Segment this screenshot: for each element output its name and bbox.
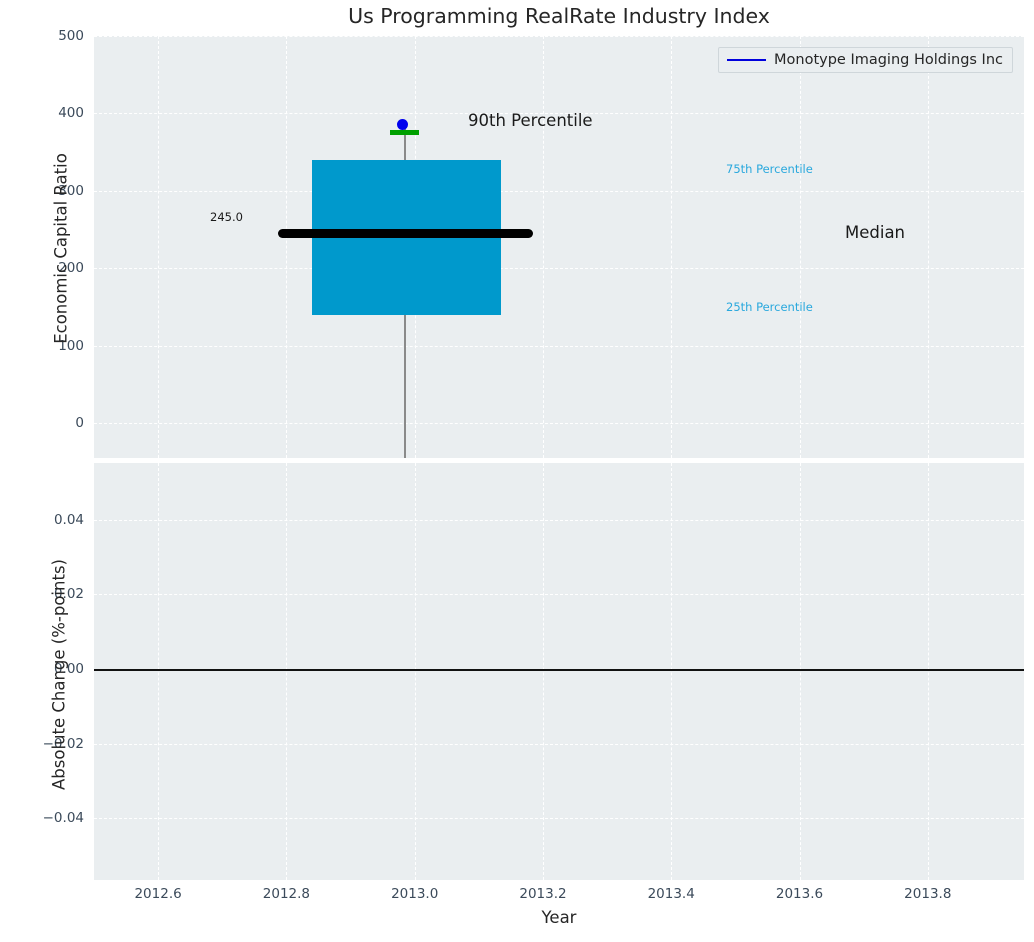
absolute-change-plot-area [94,463,1024,880]
whisker-cap-90th [390,130,419,135]
gridline-x-2013-2-lower [543,463,544,880]
gridline-x-2013-4-lower [671,463,672,880]
xtick-2013-2: 2013.2 [519,886,566,902]
chart-figure: Us Programming RealRate Industry Index 9… [0,0,1034,942]
gridline-change-0-02 [94,594,1024,595]
gridline-y-0 [94,423,1024,424]
gridline-y-200 [94,268,1024,269]
y-axis-label-bottom: Absolute Change (%-points) [50,440,69,910]
gridline-x-2012-6 [158,36,159,458]
xtick-2013-4: 2013.4 [648,886,695,902]
gridline-change-neg-0-04 [94,818,1024,819]
legend-line-icon [727,59,766,61]
gridline-x-2013-6-lower [800,463,801,880]
ytick-0: 0 [75,415,84,431]
xtick-2012-6: 2012.6 [134,886,181,902]
xtick-2013-8: 2013.8 [904,886,951,902]
legend-entry-label: Monotype Imaging Holdings Inc [774,52,1003,68]
legend[interactable]: Monotype Imaging Holdings Inc [718,47,1013,73]
gridline-x-2013-8 [928,36,929,458]
annotation-90th-percentile: 90th Percentile [468,111,593,130]
gridline-x-2012-6-lower [158,463,159,880]
median-line[interactable] [278,229,533,238]
gridline-x-2013-6 [800,36,801,458]
y-axis-ticks-top: 500 400 300 200 100 0 [4,36,84,458]
chart-title: Us Programming RealRate Industry Index [94,4,1024,28]
gridline-y-300 [94,191,1024,192]
percentile-90-marker[interactable] [397,119,408,130]
annotation-75th-percentile: 75th Percentile [726,162,813,176]
xtick-2012-8: 2012.8 [263,886,310,902]
zero-reference-line [94,669,1024,671]
y-axis-label-top: Economic Capital Ratio [52,59,71,439]
ytick-500: 500 [58,28,84,44]
gridline-x-2013-8-lower [928,463,929,880]
gridline-x-2012-8-lower [286,463,287,880]
gridline-y-100 [94,346,1024,347]
xtick-2013-6: 2013.6 [776,886,823,902]
gridline-x-2013-0-lower [415,463,416,880]
annotation-median-value: 245.0 [210,210,243,224]
economic-capital-ratio-plot-area: 90th Percentile 75th Percentile 25th Per… [94,36,1024,458]
gridline-change-0-04 [94,520,1024,521]
gridline-change-neg-0-02 [94,744,1024,745]
gridline-y-500 [94,36,1024,37]
y-axis-ticks-bottom: 0.04 0.02 0.00 −0.02 −0.04 [4,463,84,880]
annotation-median: Median [845,223,905,242]
x-axis-label: Year [94,908,1024,927]
gridline-x-2013-4 [671,36,672,458]
annotation-25th-percentile: 25th Percentile [726,300,813,314]
xtick-2013-0: 2013.0 [391,886,438,902]
gridline-x-2012-8 [286,36,287,458]
gridline-x-2013-2 [543,36,544,458]
